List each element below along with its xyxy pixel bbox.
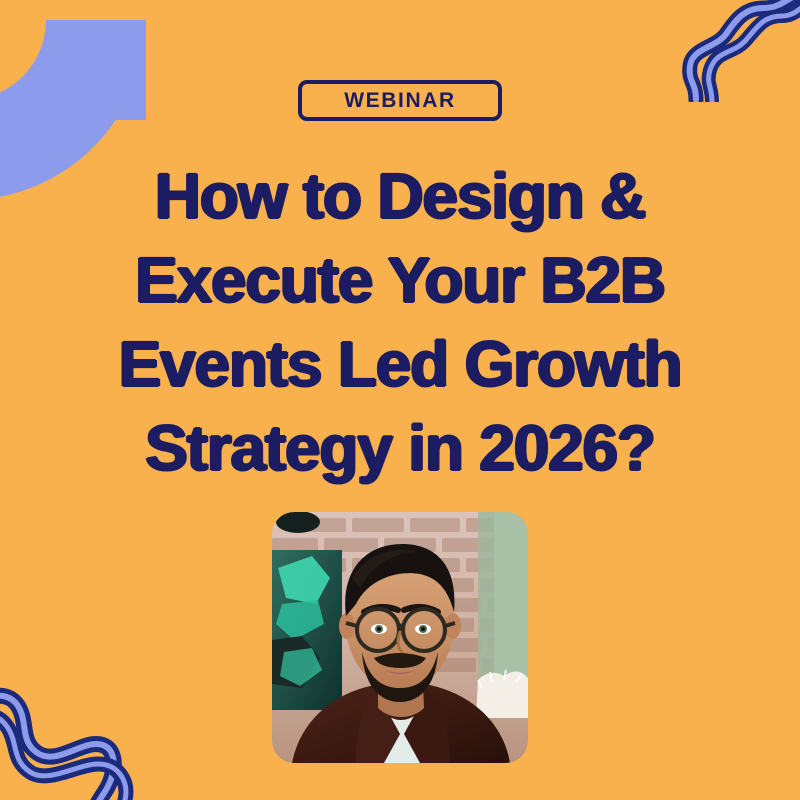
squiggle-decoration-bottom-left-icon bbox=[0, 640, 166, 800]
headline-line-4: Strategy in 2026? bbox=[40, 406, 760, 490]
page-title: How to Design & Execute Your B2B Events … bbox=[40, 154, 760, 490]
webinar-promo-poster: WEBINAR How to Design & Execute Your B2B… bbox=[0, 0, 800, 800]
speaker-photo bbox=[272, 512, 528, 763]
webinar-badge-label: WEBINAR bbox=[344, 90, 456, 111]
headline-line-2: Execute Your B2B bbox=[40, 238, 760, 322]
speaker-photo-image bbox=[272, 512, 528, 763]
headline-line-3: Events Led Growth bbox=[40, 322, 760, 406]
headline-line-1: How to Design & bbox=[40, 154, 760, 238]
webinar-badge: WEBINAR bbox=[298, 80, 502, 121]
squiggle-decoration-top-right-icon bbox=[672, 0, 800, 102]
